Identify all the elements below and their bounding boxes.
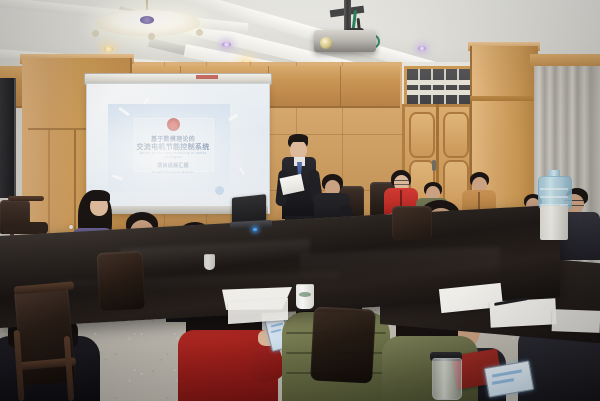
printed-document[interactable] — [552, 309, 600, 333]
screen-case-label — [196, 75, 218, 79]
transom-bar — [431, 69, 433, 105]
recessed-spot-violet-icon — [418, 46, 426, 51]
chair-frame — [8, 196, 44, 201]
wall-mounted-display — [0, 78, 16, 198]
chair-frame — [2, 222, 48, 234]
door-panel — [443, 112, 469, 158]
pillar-trim-band — [470, 96, 536, 101]
valance-seam — [340, 66, 341, 106]
conference-chair[interactable] — [97, 251, 146, 311]
door-handle[interactable] — [432, 160, 436, 171]
pendant-lamp-arm — [92, 30, 99, 37]
conference-chair[interactable] — [310, 306, 376, 383]
eyeglasses-icon — [394, 180, 409, 185]
conference-chair[interactable] — [392, 206, 432, 240]
pendant-lamp-core — [140, 16, 154, 24]
meeting-room-photo: 基于数模理论的 交流电机节能控制系统 Based on the data mod… — [0, 0, 600, 401]
cabinet-knob[interactable] — [69, 225, 73, 229]
transom-bar — [444, 69, 446, 105]
transom-shelf — [407, 80, 473, 85]
glass-mug[interactable] — [432, 358, 462, 400]
pendant-lamp-arm — [148, 33, 155, 40]
bottle-rib — [540, 196, 568, 198]
hair-front — [88, 190, 110, 201]
door-panel — [409, 112, 435, 158]
water-dispenser[interactable] — [540, 206, 568, 240]
transom-bar — [457, 69, 459, 105]
recessed-spot-violet-icon — [222, 42, 231, 47]
paper-cup-logo — [299, 292, 311, 297]
bottle-rib — [540, 188, 568, 190]
printed-document[interactable] — [228, 298, 288, 324]
hair-fringe — [289, 134, 308, 142]
transom-shelf — [407, 90, 473, 95]
paper-cup[interactable] — [204, 254, 215, 270]
recessed-spot-warm-icon — [104, 46, 113, 52]
transom-bar — [418, 69, 420, 105]
projector-mount-pole — [344, 0, 351, 30]
pendant-lamp-arm — [196, 29, 203, 36]
laptop-power-led — [253, 228, 257, 231]
screen-glare — [86, 83, 268, 212]
door-transom-window — [404, 66, 476, 108]
projector-lens — [320, 37, 332, 49]
